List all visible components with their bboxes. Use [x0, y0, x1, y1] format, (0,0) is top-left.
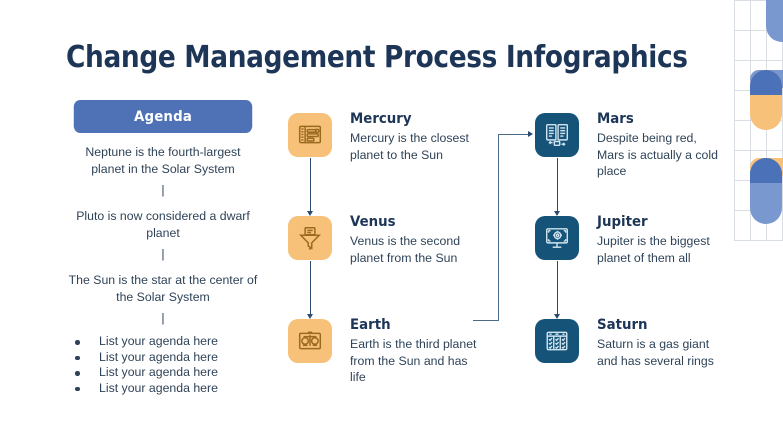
step-text-jupiter: Jupiter Jupiter is the biggest planet of…: [597, 214, 727, 266]
step-text-saturn: Saturn Saturn is a gas giant and has sev…: [597, 317, 727, 369]
step-text-mercury: Mercury Mercury is the closest planet to…: [350, 111, 480, 163]
balance-scale-icon: [297, 328, 323, 354]
step-icon-venus: [288, 216, 332, 260]
connector-mars-jupiter: [557, 158, 558, 213]
funnel-filter-icon: [297, 225, 323, 251]
agenda-divider: |: [66, 248, 260, 261]
agenda-bullet-list: List your agenda here List your agenda h…: [66, 334, 260, 396]
step-description: Earth is the third planet from the Sun a…: [350, 336, 480, 386]
arrowhead-icon: [528, 131, 533, 137]
agenda-line: Pluto is now considered a dwarf planet: [66, 208, 260, 241]
step-title: Mercury: [350, 111, 470, 127]
connector-earth-mars-h1: [473, 320, 499, 321]
step-title: Saturn: [597, 317, 717, 333]
agenda-header: Agenda: [74, 100, 252, 133]
connector-earth-mars-h2: [498, 134, 530, 135]
connector-jupiter-saturn: [557, 261, 558, 316]
decorative-grid-panel: [734, 0, 783, 241]
step-description: Venus is the second planet from the Sun: [350, 233, 480, 266]
step-description: Saturn is a gas giant and has several ri…: [597, 336, 727, 369]
step-title: Venus: [350, 214, 470, 230]
grid-line-horizontal: [734, 60, 783, 61]
grid-line-horizontal: [734, 150, 783, 151]
step-text-mars: Mars Despite being red, Mars is actually…: [597, 111, 727, 180]
list-item: List your agenda here: [66, 350, 260, 366]
agenda-line: Neptune is the fourth-largest planet in …: [66, 144, 260, 177]
step-title: Mars: [597, 111, 717, 127]
step-text-earth: Earth Earth is the third planet from the…: [350, 317, 480, 386]
step-description: Mercury is the closest planet to the Sun: [350, 130, 480, 163]
connector-earth-mars-v: [498, 134, 499, 321]
page-title: Change Management Process Infographics: [66, 40, 688, 75]
step-text-venus: Venus Venus is the second planet from th…: [350, 214, 480, 266]
projector-screen-gear-icon: [544, 225, 570, 251]
agenda-line: The Sun is the star at the center of the…: [66, 272, 260, 305]
deco-pill-blue-top: [766, 0, 783, 42]
list-item: List your agenda here: [66, 334, 260, 350]
presentation-chart-icon: [297, 122, 323, 148]
step-icon-earth: [288, 319, 332, 363]
grid-line-horizontal: [734, 240, 783, 241]
step-description: Despite being red, Mars is actually a co…: [597, 130, 727, 180]
deco-cap-blue-dark-bottom: [750, 158, 782, 183]
connector-mercury-venus: [310, 158, 311, 213]
list-item: List your agenda here: [66, 381, 260, 397]
agenda-divider: |: [66, 312, 260, 325]
step-description: Jupiter is the biggest planet of them al…: [597, 233, 727, 266]
connector-venus-earth: [310, 261, 311, 316]
deco-cap-blue-dark: [750, 70, 782, 95]
step-icon-mercury: [288, 113, 332, 157]
step-icon-jupiter: [535, 216, 579, 260]
step-icon-mars: [535, 113, 579, 157]
agenda-panel: Agenda Neptune is the fourth-largest pla…: [66, 100, 260, 396]
agenda-divider: |: [66, 184, 260, 197]
step-icon-saturn: [535, 319, 579, 363]
step-title: Jupiter: [597, 214, 717, 230]
list-item: List your agenda here: [66, 365, 260, 381]
document-transfer-icon: [544, 122, 570, 148]
step-title: Earth: [350, 317, 470, 333]
checklist-table-icon: [544, 328, 570, 354]
